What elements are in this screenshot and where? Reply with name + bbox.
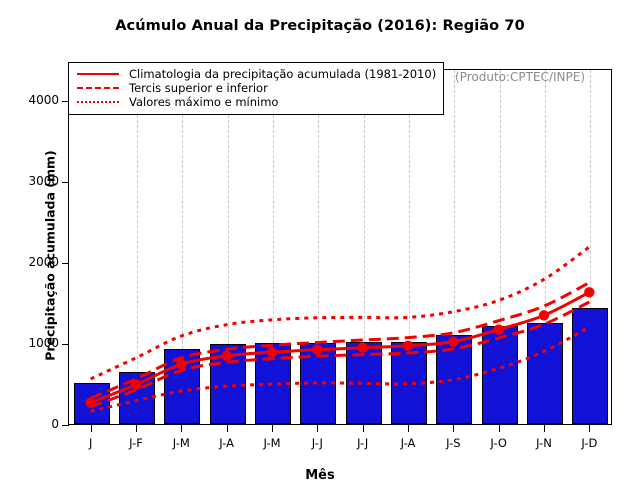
x-tick-mark — [181, 425, 182, 432]
x-tick-mark — [408, 425, 409, 432]
bar — [74, 383, 110, 424]
legend: Climatologia da precipitação acumulada (… — [68, 62, 444, 115]
bar — [527, 323, 563, 424]
legend-swatch-dotted-icon — [75, 96, 121, 108]
legend-label: Valores máximo e mínimo — [129, 96, 278, 109]
bar — [119, 372, 155, 424]
y-tick-mark — [62, 182, 69, 183]
plot-area — [69, 70, 611, 424]
y-tick-mark — [62, 425, 69, 426]
bar — [210, 344, 246, 424]
y-tick-label: 1000 — [0, 336, 68, 350]
y-tick-mark — [62, 263, 69, 264]
gridline — [137, 70, 138, 424]
y-tick-label: 2000 — [0, 255, 68, 269]
bar — [300, 343, 336, 424]
legend-item: Climatologia da precipitação acumulada (… — [75, 67, 436, 81]
y-tick-label: 0 — [0, 417, 68, 431]
y-tick-label: 3000 — [0, 174, 68, 188]
legend-item: Tercis superior e inferior — [75, 81, 436, 95]
bar — [391, 342, 427, 424]
x-tick-mark — [91, 425, 92, 432]
y-tick-mark — [62, 101, 69, 102]
watermark-producer: (Produto:CPTEC/INPE) — [455, 70, 585, 84]
x-tick-mark — [589, 425, 590, 432]
y-tick-mark — [62, 344, 69, 345]
x-tick-mark — [317, 425, 318, 432]
x-tick-label: J-D — [559, 436, 619, 450]
legend-swatch-solid-icon — [75, 68, 121, 80]
x-tick-mark — [499, 425, 500, 432]
plot-frame — [68, 69, 612, 425]
chart-title: Acúmulo Anual da Precipitação (2016): Re… — [0, 18, 640, 34]
y-tick-label: 4000 — [0, 93, 68, 107]
x-tick-mark — [363, 425, 364, 432]
bar — [572, 308, 608, 424]
legend-label: Climatologia da precipitação acumulada (… — [129, 68, 436, 81]
precipitation-chart-figure: Acúmulo Anual da Precipitação (2016): Re… — [0, 0, 640, 500]
legend-item: Valores máximo e mínimo — [75, 95, 436, 109]
x-tick-mark — [227, 425, 228, 432]
legend-label: Tercis superior e inferior — [129, 82, 268, 95]
legend-swatch-dashed-icon — [75, 82, 121, 94]
bar — [436, 335, 472, 424]
x-tick-mark — [453, 425, 454, 432]
bar — [255, 343, 291, 424]
bar — [164, 349, 200, 424]
x-tick-mark — [544, 425, 545, 432]
x-tick-mark — [136, 425, 137, 432]
bar — [482, 326, 518, 424]
bar — [346, 342, 382, 424]
x-tick-mark — [272, 425, 273, 432]
x-axis-label: Mês — [0, 468, 640, 483]
